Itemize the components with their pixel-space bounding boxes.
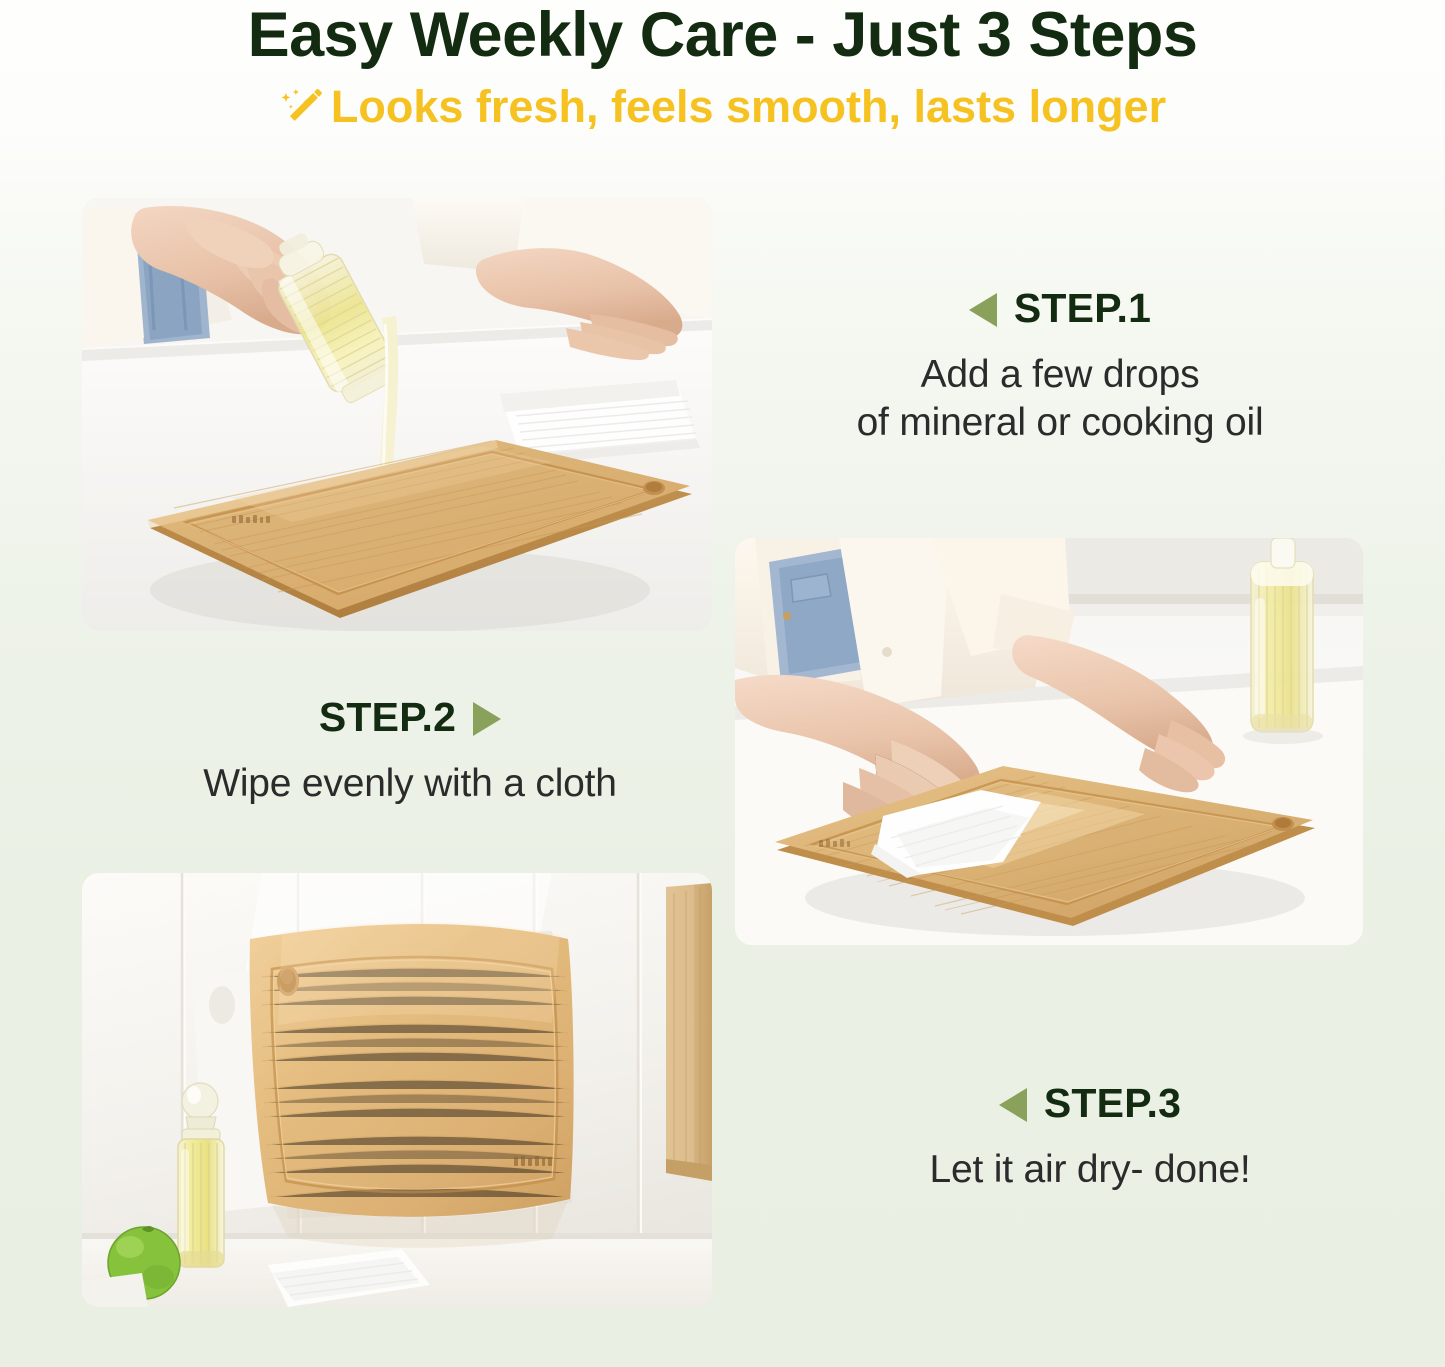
step-1-description-line-2: of mineral or cooking oil (760, 399, 1360, 447)
header: Easy Weekly Care - Just 3 Steps Looks fr… (0, 0, 1445, 132)
step-2-text-block: STEP.2 Wipe evenly with a cloth (100, 697, 720, 808)
step-2-photo-scene (735, 538, 1363, 945)
page-subtitle-text: Looks fresh, feels smooth, lasts longer (331, 82, 1166, 132)
triangle-left-icon (999, 1088, 1027, 1122)
page-title: Easy Weekly Care - Just 3 Steps (0, 0, 1445, 68)
step-2-label: STEP.2 (319, 697, 456, 738)
step-3-description: Let it air dry- done! (820, 1124, 1360, 1194)
step-1-label: STEP.1 (1014, 288, 1151, 329)
magic-wand-icon (279, 86, 325, 132)
step-1-text-block: STEP.1 Add a few drops of mineral or coo… (760, 288, 1360, 448)
step-3-photo (82, 873, 712, 1307)
step-2-description-line-1: Wipe evenly with a cloth (100, 760, 720, 808)
step-1-photo-scene (82, 198, 712, 631)
step-2-description: Wipe evenly with a cloth (100, 738, 720, 808)
step-3-heading: STEP.3 (820, 1083, 1360, 1124)
page-subtitle: Looks fresh, feels smooth, lasts longer (0, 68, 1445, 132)
triangle-right-icon (473, 702, 501, 736)
step-3-text-block: STEP.3 Let it air dry- done! (820, 1083, 1360, 1194)
step-2-photo (735, 538, 1363, 945)
step-1-description-line-1: Add a few drops (760, 351, 1360, 399)
step-1-heading: STEP.1 (760, 288, 1360, 329)
step-3-photo-scene (82, 873, 712, 1307)
step-3-description-line-1: Let it air dry- done! (820, 1146, 1360, 1194)
step-2-heading: STEP.2 (100, 697, 720, 738)
step-1-description: Add a few drops of mineral or cooking oi… (760, 329, 1360, 448)
triangle-left-icon (969, 293, 997, 327)
step-3-label: STEP.3 (1044, 1083, 1181, 1124)
step-1-photo (82, 198, 712, 631)
